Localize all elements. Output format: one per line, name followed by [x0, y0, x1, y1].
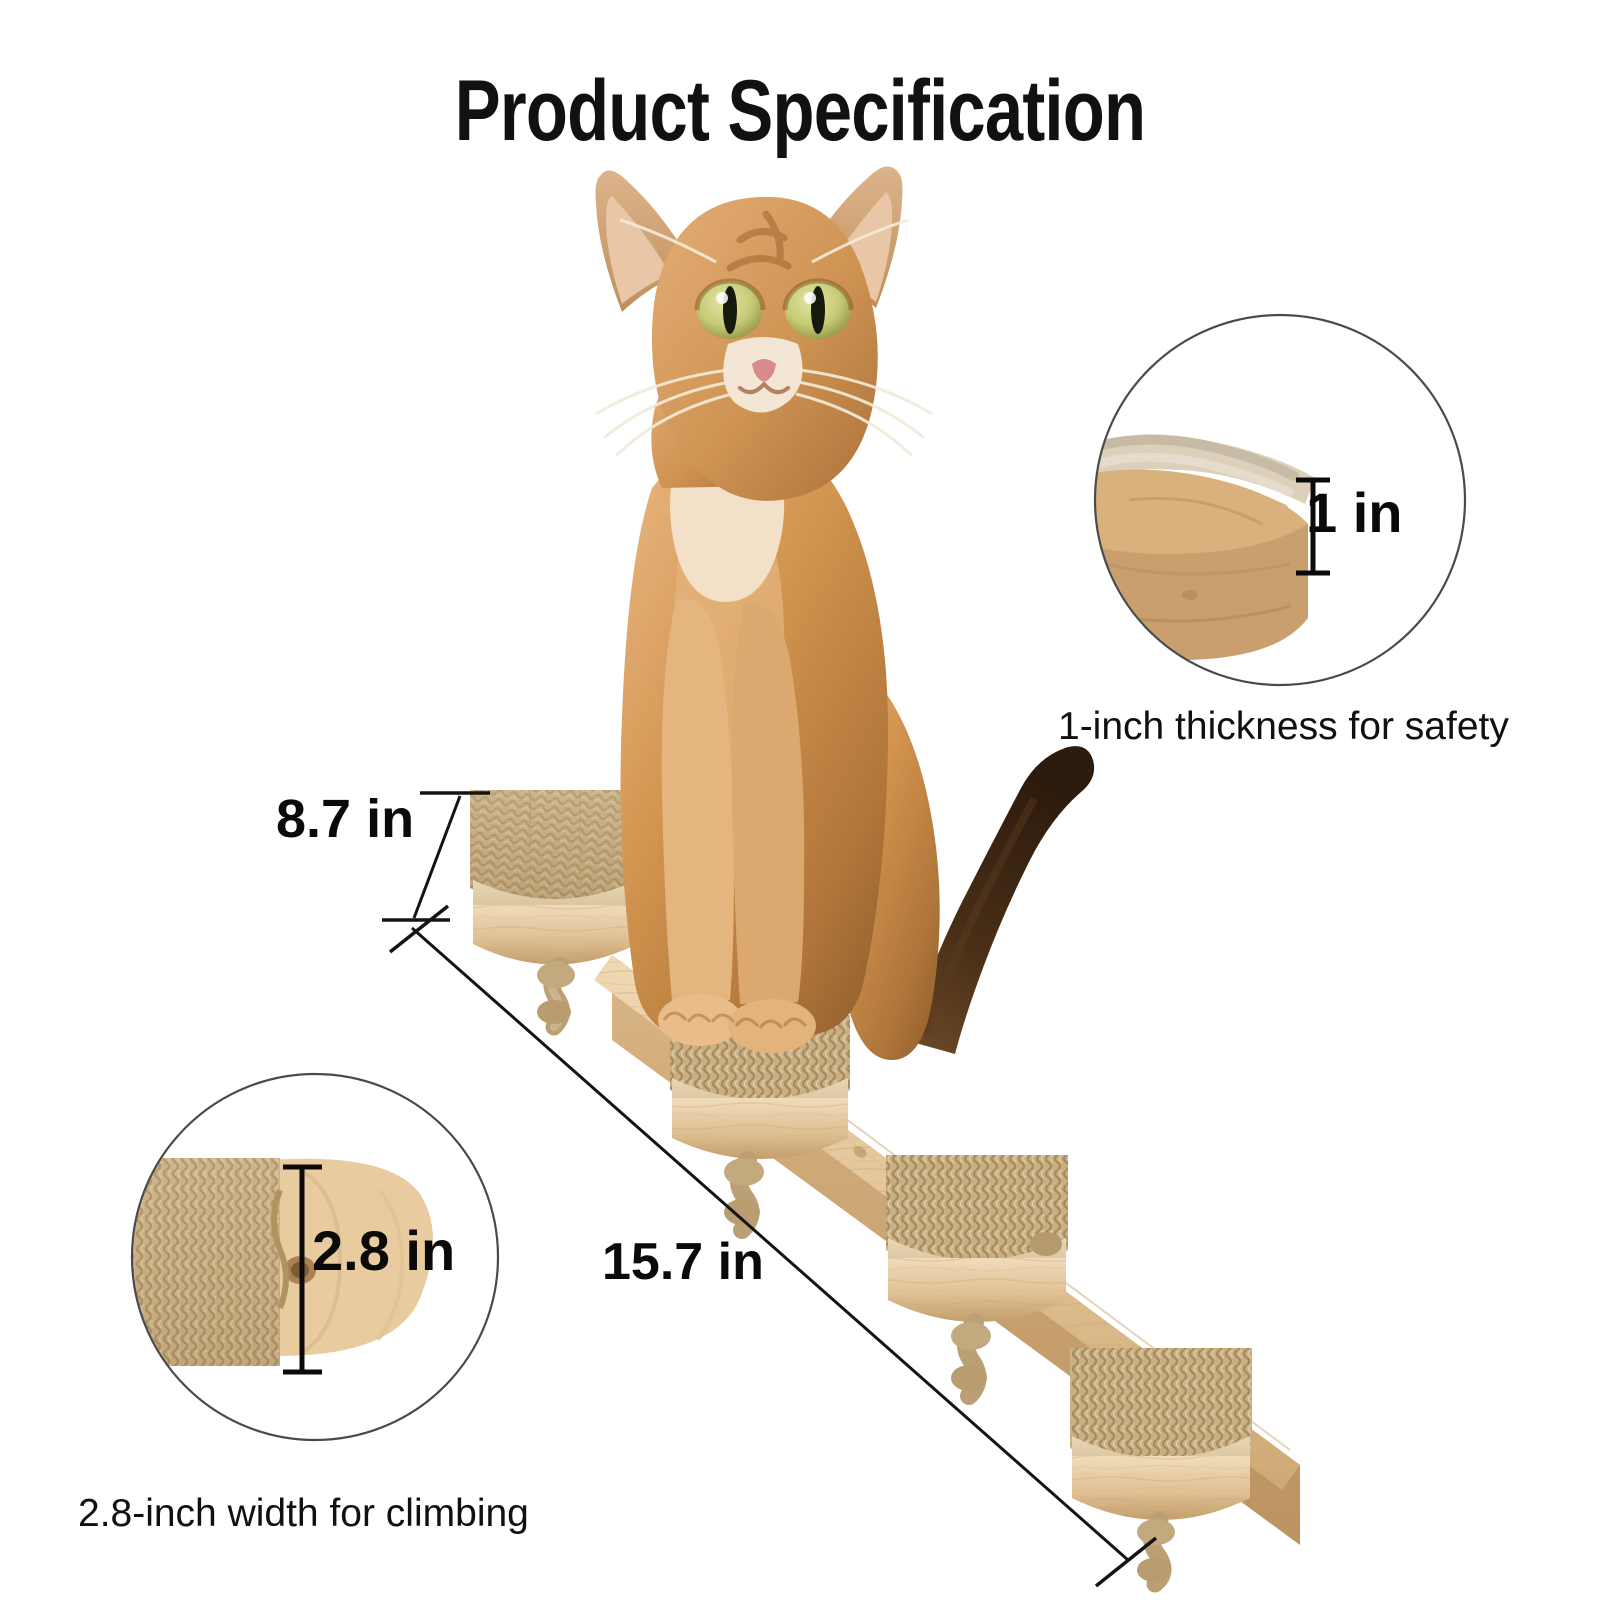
rope-tassel-4: [1137, 1519, 1175, 1584]
dimension-label-height: 8.7 in: [276, 788, 414, 850]
rope-tassel-3: [951, 1322, 991, 1396]
product-illustration: [0, 0, 1600, 1600]
dimension-label-length: 15.7 in: [602, 1232, 764, 1292]
callout-caption-width: 2.8-inch width for climbing: [78, 1492, 529, 1536]
rope-tassel-1: [537, 962, 575, 1027]
dimension-label-thickness: 1 in: [1306, 480, 1402, 545]
ladder-step-3: [886, 1155, 1068, 1396]
cat-eye-right: [785, 281, 851, 339]
cat-eye-left: [697, 281, 763, 339]
product-specification-page: Product Specification: [0, 0, 1600, 1600]
ladder-step-4: [1070, 1348, 1252, 1584]
callout-caption-thickness: 1-inch thickness for safety: [1058, 705, 1509, 749]
cat-illustration: [596, 166, 1095, 1060]
dimension-label-width: 2.8 in: [312, 1218, 455, 1283]
